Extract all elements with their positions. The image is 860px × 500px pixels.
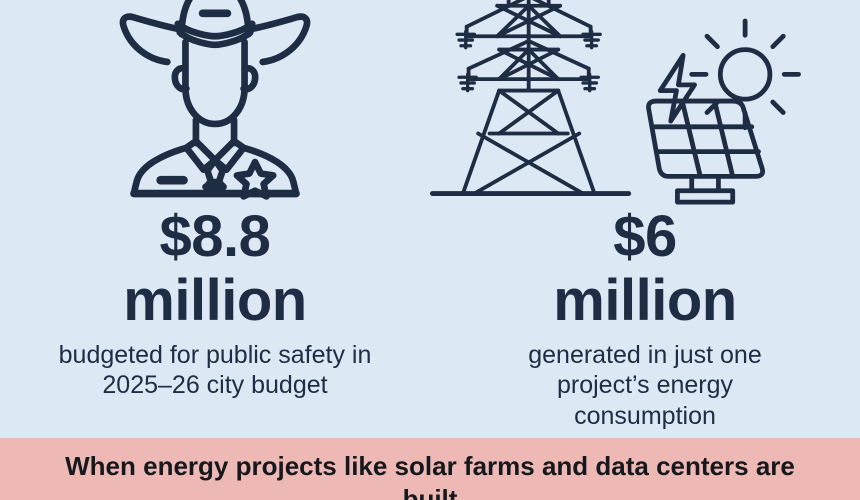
- sheriff-officer-icon-wrap: [0, 0, 430, 205]
- infographic-root: $8.8 million budgeted for public safety …: [0, 0, 860, 500]
- bottom-banner: When energy projects like solar farms an…: [0, 438, 860, 500]
- transmission-tower-icon: [432, 0, 628, 194]
- banner-text: When energy projects like solar farms an…: [0, 450, 860, 500]
- stat-column-energy: $6 million generated in just one project…: [430, 0, 860, 431]
- stats-row: $8.8 million budgeted for public safety …: [0, 0, 860, 440]
- stat-amount: $6: [613, 209, 677, 266]
- stat-column-public-safety: $8.8 million budgeted for public safety …: [0, 0, 430, 401]
- stat-caption: generated in just one project’s energy c…: [495, 340, 795, 432]
- banner-line-1: When energy projects like solar farms an…: [14, 450, 846, 483]
- solar-panel-icon: [648, 101, 762, 202]
- power-tower-solar-panel-icon: [430, 0, 860, 205]
- power-tower-solar-panel-icon-wrap: [430, 0, 860, 205]
- stat-caption: budgeted for public safety in 2025–26 ci…: [50, 340, 380, 401]
- banner-line-2: built: [14, 483, 846, 500]
- stat-amount: $8.8: [160, 209, 271, 266]
- lightning-bolt-icon: [660, 55, 694, 121]
- sheriff-officer-icon: [85, 0, 345, 205]
- stat-unit: million: [553, 272, 736, 330]
- stat-unit: million: [123, 272, 306, 330]
